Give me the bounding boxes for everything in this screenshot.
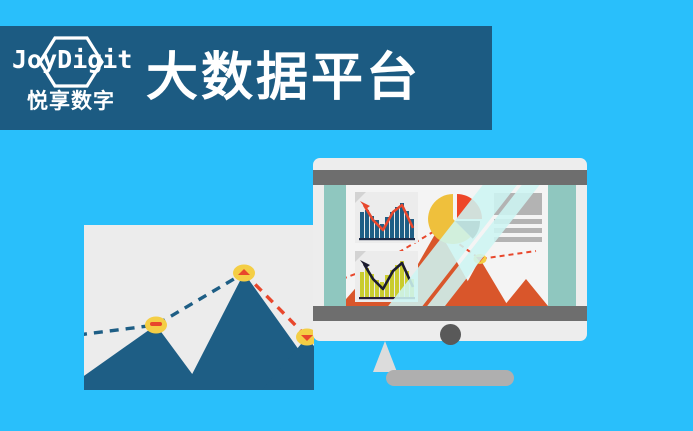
data-point-marker bbox=[296, 329, 314, 346]
bar-chart-card-blue bbox=[355, 192, 418, 243]
data-point-marker bbox=[145, 317, 167, 334]
monitor-illustration bbox=[313, 158, 587, 341]
brand-subtext: 悦享数字 bbox=[12, 90, 130, 114]
mountain-shape-d bbox=[504, 279, 548, 306]
header-banner: JoyDigit 悦享数字 大数据平台 bbox=[0, 26, 492, 130]
monitor-stand-neck bbox=[373, 341, 397, 372]
dashboard-canvas bbox=[346, 185, 548, 306]
text-block-line bbox=[494, 237, 542, 242]
poster-canvas: JoyDigit 悦享数字 大数据平台 bbox=[0, 0, 693, 431]
monitor-stand-base bbox=[386, 370, 514, 386]
monitor-bezel-top bbox=[313, 170, 587, 185]
axis-line bbox=[359, 238, 415, 240]
card-fold-corner bbox=[355, 251, 366, 262]
card-fold-corner bbox=[355, 192, 366, 203]
left-mountain-chart bbox=[84, 225, 314, 390]
page-title: 大数据平台 bbox=[146, 48, 421, 108]
monitor-power-indicator bbox=[440, 324, 461, 345]
monitor-screen bbox=[324, 185, 576, 306]
brand-logo: JoyDigit 悦享数字 bbox=[12, 34, 130, 122]
monitor-bezel-bottom bbox=[313, 306, 587, 321]
left-mountain-panel bbox=[84, 225, 314, 390]
screen-band-left bbox=[324, 185, 346, 306]
data-point-marker bbox=[233, 265, 255, 282]
screen-band-right bbox=[548, 185, 576, 306]
brand-wordmark: JoyDigit bbox=[12, 46, 130, 74]
